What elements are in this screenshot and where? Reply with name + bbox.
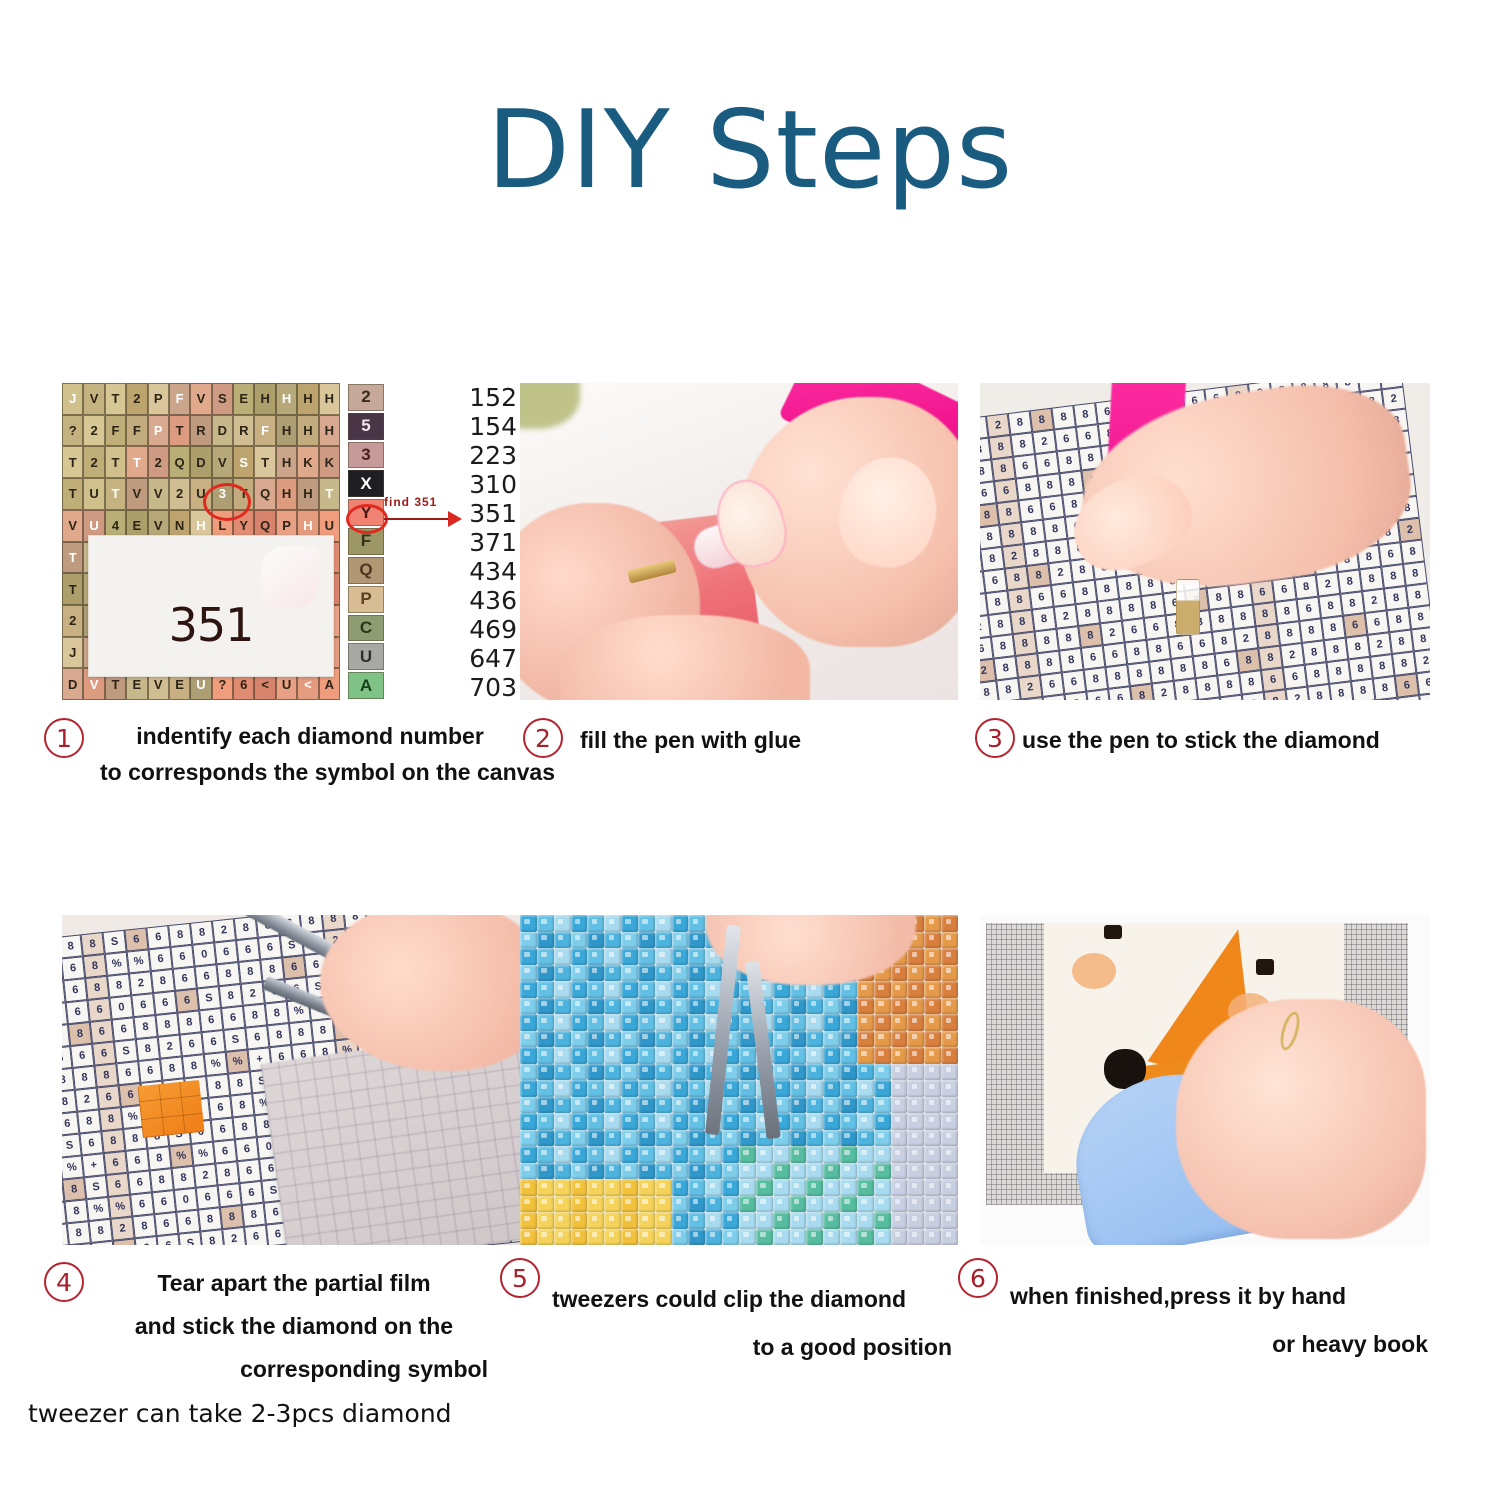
canvas-symbol-cell: 8 <box>1389 630 1414 655</box>
canvas-symbol-cell: 8 <box>155 1013 179 1037</box>
canvas-symbol-cell: 6 <box>125 1149 149 1173</box>
canvas-symbol-cell: 2 <box>75 1088 99 1112</box>
diamond <box>739 1130 756 1147</box>
caption-line: when finished,press it by hand <box>1010 1272 1428 1320</box>
diamond <box>520 1080 537 1097</box>
diamond <box>587 1080 604 1097</box>
canvas-symbol-cell: 8 <box>1013 631 1038 656</box>
canvas-symbol-cell: 6 <box>201 1030 225 1054</box>
diamond <box>537 915 554 932</box>
canvas-symbol-cell: 2 <box>1285 687 1310 700</box>
canvas-symbol-cell: 8 <box>1043 517 1068 542</box>
diamond <box>891 1113 908 1130</box>
canvas-symbol-cell: 8 <box>219 984 243 1008</box>
canvas-symbol-cell: 6 <box>124 927 148 951</box>
canvas-symbol-cell: 8 <box>1231 605 1256 630</box>
diamond <box>537 1014 554 1031</box>
canvas-symbol-cell: 6 <box>1250 580 1275 605</box>
diamond <box>604 981 621 998</box>
canvas-symbol-cell: 8 <box>206 1074 230 1098</box>
canvas-symbol-cell: 8 <box>1010 432 1035 457</box>
canvas-symbol-cell: 6 <box>213 1139 237 1163</box>
symbol-cell: T <box>105 478 126 510</box>
canvas-symbol-cell: 6 <box>62 956 85 980</box>
diamond <box>621 981 638 998</box>
symbol-cell: T <box>169 415 190 447</box>
legend-symbol: X <box>348 470 384 497</box>
diamond <box>554 1130 571 1147</box>
diamond <box>587 1097 604 1114</box>
canvas-symbol-cell: 6 <box>1365 610 1390 635</box>
diamond <box>806 1146 823 1163</box>
canvas-symbol-cell: 6 <box>113 1238 137 1245</box>
canvas-symbol-cell: 8 <box>267 1023 291 1047</box>
legend-symbol: Q <box>348 557 384 584</box>
diamond <box>823 1130 840 1147</box>
diamond <box>688 1047 705 1064</box>
diamond <box>907 1179 924 1196</box>
canvas-symbol-cell: 8 <box>1256 624 1281 649</box>
step-number-2: 2 <box>523 718 563 758</box>
canvas-symbol-cell: 8 <box>1387 608 1412 633</box>
diamond <box>891 1031 908 1048</box>
arrow-head-icon <box>448 511 462 527</box>
canvas-symbol-cell: 8 <box>62 934 83 958</box>
diamond <box>722 1130 739 1147</box>
canvas-symbol-cell: 8 <box>1359 567 1384 592</box>
diamond <box>806 1047 823 1064</box>
canvas-symbol-cell: 8 <box>1024 541 1049 566</box>
diamond <box>806 1064 823 1081</box>
diamond <box>924 1229 941 1246</box>
canvas-symbol-cell: 8 <box>1275 599 1300 624</box>
diamond <box>688 932 705 949</box>
diamond <box>840 1031 857 1048</box>
symbol-cell: J <box>62 637 83 669</box>
canvas-symbol-cell: 8 <box>1084 667 1109 692</box>
canvas-symbol-cell: 2 <box>1316 572 1341 597</box>
diamond <box>621 915 638 932</box>
diamond <box>537 1179 554 1196</box>
diamond <box>672 1080 689 1097</box>
canvas-symbol-cell: 8 <box>1406 583 1430 608</box>
step-6-image-press-by-hand <box>980 915 1430 1245</box>
diamond <box>924 1097 941 1114</box>
diamond <box>722 1163 739 1180</box>
canvas-symbol-cell: 8 <box>980 547 1005 572</box>
canvas-symbol-cell: 6 <box>1029 585 1054 610</box>
canvas-symbol-cell: 8 <box>1307 684 1332 700</box>
diamond <box>621 1196 638 1213</box>
canvas-symbol-cell: 8 <box>1038 473 1063 498</box>
diamond <box>790 1212 807 1229</box>
canvas-symbol-cell: 8 <box>1010 610 1035 635</box>
diamond <box>604 965 621 982</box>
diamond <box>874 1179 891 1196</box>
diamond <box>520 1196 537 1213</box>
canvas-symbol-cell: 6 <box>1013 454 1038 479</box>
caption-line: or heavy book <box>1010 1320 1428 1368</box>
diamond <box>520 1212 537 1229</box>
symbol-cell: T <box>105 446 126 478</box>
canvas-symbol-cell: 8 <box>1116 574 1141 599</box>
diamond <box>604 915 621 932</box>
diamond <box>655 1014 672 1031</box>
diamond <box>587 981 604 998</box>
canvas-symbol-cell: 6 <box>130 1192 154 1216</box>
diamond <box>806 1163 823 1180</box>
diamond <box>705 1146 722 1163</box>
canvas-symbol-cell: 6 <box>170 945 194 969</box>
diamond <box>655 1229 672 1246</box>
diamond <box>857 1113 874 1130</box>
canvas-symbol-cell: 8 <box>1146 637 1171 662</box>
canvas-symbol-cell: 8 <box>1057 449 1082 474</box>
diamond <box>874 1097 891 1114</box>
diamond <box>604 1113 621 1130</box>
diamond <box>840 1229 857 1246</box>
diamond <box>891 1212 908 1229</box>
diamond <box>621 1047 638 1064</box>
caption-line: tweezers could clip the diamond <box>552 1275 952 1323</box>
canvas-symbol-cell: 6 <box>63 978 87 1002</box>
diamond <box>924 965 941 982</box>
symbol-cell: H <box>276 478 297 510</box>
diamond <box>688 981 705 998</box>
canvas-symbol-cell: 8 <box>1239 670 1264 695</box>
canvas-symbol-cell: 6 <box>983 569 1008 594</box>
diamond <box>790 1097 807 1114</box>
canvas-symbol-cell: 8 <box>1264 689 1289 700</box>
diamond <box>672 932 689 949</box>
diamond <box>806 1179 823 1196</box>
diamond <box>621 1229 638 1246</box>
diamond <box>587 1047 604 1064</box>
canvas-symbol-cell: % <box>127 949 151 973</box>
diamond <box>823 1097 840 1114</box>
diamond <box>941 965 958 982</box>
step-5-image-tweezers <box>520 915 958 1245</box>
canvas-symbol-cell: 8 <box>1242 692 1267 700</box>
caption-line: corresponding symbol <box>100 1348 488 1391</box>
canvas-symbol-cell: 6 <box>218 1183 242 1207</box>
canvas-symbol-cell: 2 <box>1398 518 1423 543</box>
diamond <box>537 1097 554 1114</box>
diamond <box>722 1097 739 1114</box>
diamond <box>571 1146 588 1163</box>
canvas-symbol-cell: % <box>191 1142 215 1166</box>
diamond <box>621 965 638 982</box>
canvas-symbol-cell: 6 <box>87 998 111 1022</box>
diamond <box>941 1064 958 1081</box>
diamond <box>924 1179 941 1196</box>
symbol-cell: T <box>62 478 83 510</box>
canvas-symbol-cell: 8 <box>1005 566 1030 591</box>
symbol-cell: D <box>62 668 83 700</box>
arrow-line <box>384 518 450 520</box>
canvas-symbol-cell: 8 <box>230 1093 254 1117</box>
diamond <box>840 1212 857 1229</box>
diamond <box>672 1163 689 1180</box>
diamond <box>672 1229 689 1246</box>
canvas-symbol-cell: 8 <box>150 1168 174 1192</box>
diamond <box>554 965 571 982</box>
diamond <box>705 1179 722 1196</box>
canvas-symbol-cell: 6 <box>282 955 306 979</box>
diamond <box>941 1130 958 1147</box>
diamond <box>823 1196 840 1213</box>
diamond <box>840 1097 857 1114</box>
diamond <box>790 1031 807 1048</box>
canvas-symbol-cell: 8 <box>1294 575 1319 600</box>
symbol-cell: 2 <box>83 446 104 478</box>
legend-number: 351 <box>457 499 519 528</box>
symbol-cell: F <box>169 383 190 415</box>
symbol-cell: V <box>190 383 211 415</box>
diamond <box>840 998 857 1015</box>
diamond <box>672 1064 689 1081</box>
diamond <box>638 981 655 998</box>
canvas-symbol-cell: 6 <box>1272 577 1297 602</box>
canvas-symbol-cell: 6 <box>1416 671 1430 696</box>
canvas-symbol-cell: 8 <box>1411 627 1430 652</box>
bag-number-label: 351 <box>89 598 333 652</box>
diamond <box>604 998 621 1015</box>
canvas-symbol-cell: 6 <box>176 1210 200 1234</box>
canvas-symbol-cell: 8 <box>1228 583 1253 608</box>
canvas-symbol-cell: 6 <box>106 1173 130 1197</box>
diamond <box>874 1080 891 1097</box>
canvas-symbol-cell: 6 <box>1108 686 1133 700</box>
canvas-symbol-cell: 2 <box>1018 675 1043 700</box>
diamond <box>806 1229 823 1246</box>
diamond <box>790 1080 807 1097</box>
caption-line: use the pen to stick the diamond <box>1022 722 1472 758</box>
step-1-image-symbol-chart: JVT2PFVSEHHHH?2FFPTRDRFHHHT2TT2QDVSTHKKT… <box>62 383 520 700</box>
diamond <box>537 1212 554 1229</box>
diamond <box>571 1064 588 1081</box>
canvas-symbol-cell: 8 <box>1299 618 1324 643</box>
diamond <box>924 915 941 932</box>
diamond <box>924 998 941 1015</box>
canvas-symbol-cell: 6 <box>1035 451 1060 476</box>
diamond <box>672 1196 689 1213</box>
canvas-symbol-cell: 6 <box>199 1008 223 1032</box>
diamond <box>941 1212 958 1229</box>
canvas-symbol-cell: 2 <box>1280 643 1305 668</box>
diamond <box>823 1031 840 1048</box>
diamond <box>604 1196 621 1213</box>
canvas-symbol-cell: 8 <box>1348 657 1373 682</box>
canvas-symbol-cell: 8 <box>1381 564 1406 589</box>
canvas-symbol-cell: 8 <box>1408 605 1430 630</box>
diamond <box>638 1064 655 1081</box>
diamond <box>520 1031 537 1048</box>
canvas-symbol-cell: 2 <box>241 982 265 1006</box>
diamond <box>941 1196 958 1213</box>
diamond <box>688 998 705 1015</box>
canvas-symbol-cell: 2 <box>1054 604 1079 629</box>
diamond <box>621 1113 638 1130</box>
canvas-symbol-cell: 8 <box>147 1146 171 1170</box>
diamond <box>722 1080 739 1097</box>
canvas-symbol-cell: 8 <box>1384 586 1409 611</box>
symbol-cell: K <box>319 446 340 478</box>
symbol-cell: T <box>126 446 147 478</box>
diamond <box>604 932 621 949</box>
diamond <box>924 1212 941 1229</box>
diamond <box>840 1047 857 1064</box>
canvas-symbol-cell: 6 <box>173 967 197 991</box>
diamond <box>941 981 958 998</box>
diamond <box>655 915 672 932</box>
diamond <box>857 1196 874 1213</box>
canvas-symbol-cell: 8 <box>1193 654 1218 679</box>
diamond <box>874 1196 891 1213</box>
highlight-ellipse-symbol <box>346 504 388 534</box>
diamond <box>571 1080 588 1097</box>
canvas-symbol-cell: 8 <box>1127 662 1152 687</box>
canvas-symbol-cell: 6 <box>1018 498 1043 523</box>
canvas-symbol-cell: 6 <box>135 1236 159 1245</box>
symbol-cell: T <box>319 478 340 510</box>
diamond <box>587 1031 604 1048</box>
canvas-symbol-cell: 8 <box>1130 684 1155 700</box>
canvas-symbol-cell: 8 <box>68 1022 92 1046</box>
diamond <box>672 915 689 932</box>
diamond <box>672 965 689 982</box>
diamond <box>655 1212 672 1229</box>
canvas-symbol-cell: 6 <box>1062 670 1087 695</box>
canvas-symbol-cell: % <box>169 1144 193 1168</box>
canvas-symbol-cell: 8 <box>1105 664 1130 689</box>
diamond <box>638 1130 655 1147</box>
diamond <box>571 1097 588 1114</box>
symbol-cell: 2 <box>83 415 104 447</box>
canvas-symbol-cell: 8 <box>1059 648 1084 673</box>
canvas-symbol-cell: 8 <box>1037 651 1062 676</box>
diamond <box>672 1097 689 1114</box>
legend-symbol: 2 <box>348 384 384 411</box>
legend-symbol: A <box>348 672 384 699</box>
step-4-caption: Tear apart the partial film and stick th… <box>100 1262 488 1391</box>
symbol-cell: T <box>62 573 83 605</box>
canvas-symbol-cell: 6 <box>1215 651 1240 676</box>
canvas-symbol-cell: 8 <box>991 457 1016 482</box>
diamond <box>790 1146 807 1163</box>
diamond <box>790 1064 807 1081</box>
canvas-symbol-cell: 8 <box>1097 599 1122 624</box>
diamond <box>537 932 554 949</box>
diamond <box>874 998 891 1015</box>
diamond <box>672 981 689 998</box>
canvas-symbol-cell: 2 <box>212 918 236 942</box>
diamond <box>655 948 672 965</box>
diamond <box>806 1130 823 1147</box>
diamond <box>705 965 722 982</box>
canvas-symbol-cell: 8 <box>980 525 1002 550</box>
diamond <box>924 1031 941 1048</box>
canvas-symbol-cell: 2 <box>222 1227 246 1245</box>
legend-number: 310 <box>457 470 519 499</box>
caption-line: tweezer can take 2-3pcs diamond <box>28 1396 498 1432</box>
canvas-symbol-cell: 8 <box>200 1229 224 1245</box>
diamond <box>571 1031 588 1048</box>
diamond <box>537 1031 554 1048</box>
symbol-cell: S <box>212 383 233 415</box>
symbol-cell: H <box>297 415 318 447</box>
diamond <box>823 1163 840 1180</box>
canvas-symbol-cell: 8 <box>1095 577 1120 602</box>
diamond <box>638 915 655 932</box>
diamond <box>705 1196 722 1213</box>
diamond <box>823 1064 840 1081</box>
diamond <box>891 1146 908 1163</box>
diamond <box>891 1196 908 1213</box>
diamond <box>638 1146 655 1163</box>
canvas-symbol-cell: 8 <box>177 1010 201 1034</box>
canvas-symbol-cell: 8 <box>1212 629 1237 654</box>
diamond <box>857 1080 874 1097</box>
diamond <box>571 998 588 1015</box>
diamond-bag: 351 <box>88 535 334 677</box>
diamond <box>941 1179 958 1196</box>
diamond <box>655 1146 672 1163</box>
diamond <box>688 1212 705 1229</box>
canvas-symbol-cell: 8 <box>1026 563 1051 588</box>
symbol-cell: H <box>319 415 340 447</box>
diamond <box>638 932 655 949</box>
diamond <box>891 1229 908 1246</box>
canvas-symbol-cell: 8 <box>1119 596 1144 621</box>
diamond <box>554 1179 571 1196</box>
symbol-cell: H <box>276 446 297 478</box>
legend-number: 223 <box>457 441 519 470</box>
diamond <box>520 1064 537 1081</box>
diamond <box>941 1014 958 1031</box>
diamond <box>907 1113 924 1130</box>
canvas-symbol-cell: 8 <box>1318 594 1343 619</box>
diamond <box>520 1097 537 1114</box>
diamond <box>571 1130 588 1147</box>
diamond <box>857 1212 874 1229</box>
diamond <box>874 1031 891 1048</box>
canvas-symbol-cell: 8 <box>198 1207 222 1231</box>
canvas-symbol-cell: 6 <box>239 1181 263 1205</box>
diamond <box>840 1014 857 1031</box>
canvas-symbol-cell: 0 <box>192 942 216 966</box>
diamond <box>688 1014 705 1031</box>
diamond <box>739 1080 756 1097</box>
diamond <box>773 1146 790 1163</box>
diamond <box>857 1031 874 1048</box>
caption-line: and stick the diamond on the <box>100 1305 488 1348</box>
symbol-cell: D <box>212 415 233 447</box>
canvas-symbol-cell: 2 <box>110 1216 134 1240</box>
diamond <box>604 1031 621 1048</box>
diamond <box>621 948 638 965</box>
diamond <box>688 1229 705 1246</box>
diamond <box>722 1212 739 1229</box>
canvas-symbol-cell: 2 <box>1048 561 1073 586</box>
diamond <box>638 1229 655 1246</box>
diamond <box>773 998 790 1015</box>
canvas-symbol-cell: 8 <box>1007 588 1032 613</box>
diamond <box>638 1014 655 1031</box>
canvas-symbol-cell: 2 <box>986 413 1011 438</box>
diamond <box>840 1179 857 1196</box>
diamond <box>823 1113 840 1130</box>
